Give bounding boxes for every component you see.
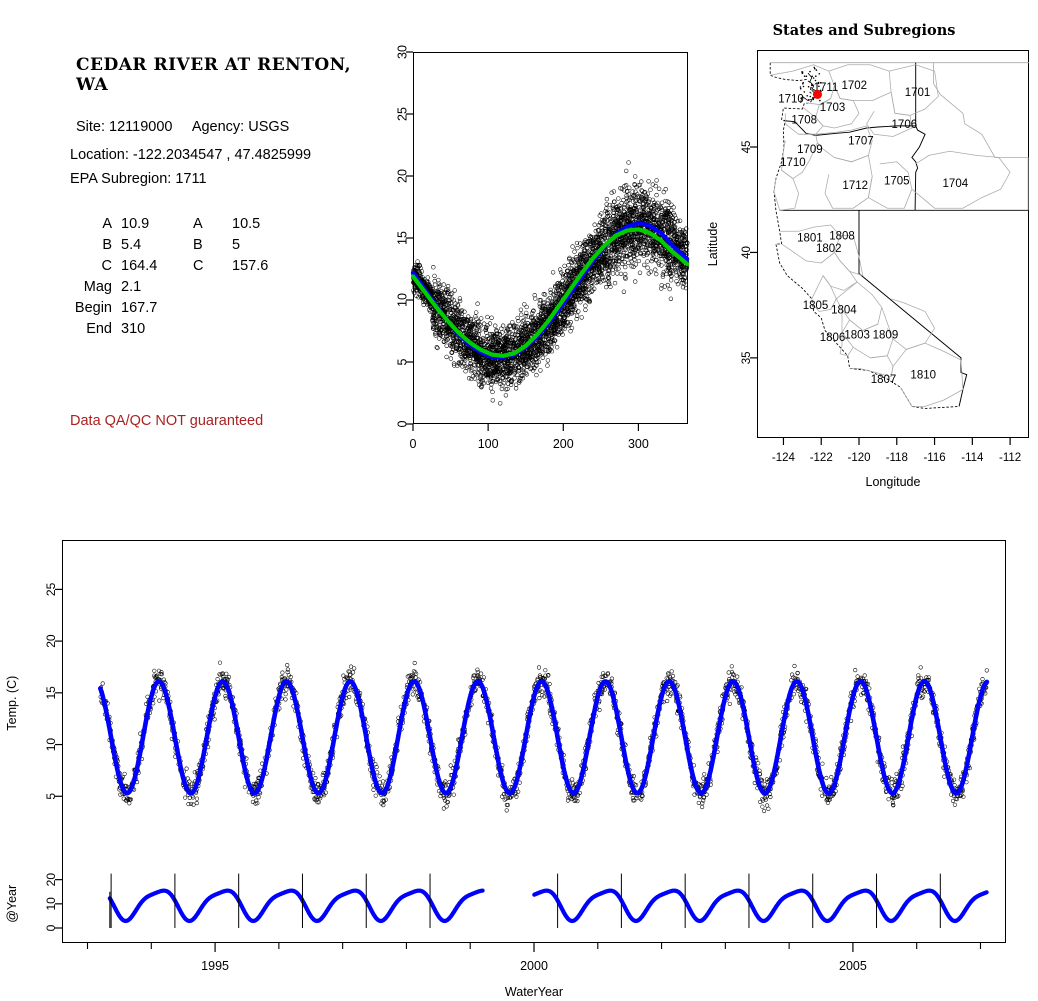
ts-y-tick-label: 5 — [44, 793, 58, 800]
parameter-label: Begin — [62, 300, 121, 321]
parameter-value: 310 — [121, 321, 193, 342]
parameter-row: Mag2.1 — [62, 279, 268, 300]
map-x-axis-title: Longitude — [866, 475, 921, 489]
parameter-value-secondary: 157.6 — [232, 258, 268, 279]
ts-x-tick-label: 2000 — [520, 959, 548, 973]
scatter-points — [411, 161, 689, 406]
map-x-tick-label: -120 — [847, 452, 870, 464]
parameter-value-secondary: 10.5 — [232, 216, 268, 237]
model-parameter-table: A10.9A10.5B5.4B5C164.4C157.6Mag2.1Begin1… — [62, 216, 268, 342]
parameter-row: End310 — [62, 321, 268, 342]
ts-y-tick-label: 10 — [44, 738, 58, 752]
gauge-point — [800, 88, 802, 90]
map-y-tick-label: 40 — [741, 246, 753, 259]
map-x-tick-label: -112 — [999, 452, 1021, 464]
gauge-point — [810, 87, 812, 89]
subregion-label: 1807 — [871, 374, 897, 386]
subregion-label: 1703 — [820, 102, 846, 114]
y-axis-tick-label: 0 — [395, 420, 409, 427]
ts-y-tick-label: 20 — [44, 634, 58, 648]
subpanel-annual-curves — [110, 891, 987, 921]
gauge-point — [810, 96, 812, 98]
parameter-row: C164.4C157.6 — [62, 258, 268, 279]
x-axis-tick-label: 0 — [410, 437, 417, 451]
subregion-label: 1806 — [820, 332, 846, 344]
parameter-value-secondary — [232, 300, 268, 321]
map-y-tick-label: 35 — [741, 351, 753, 364]
timeseries-chart: 510152025Temp. (C)01020@Year199520002005… — [0, 515, 1038, 1001]
subregion-label: 1701 — [905, 87, 931, 99]
map-canvas: -124-122-120-118-116-114-112354045Longit… — [690, 10, 1038, 510]
parameter-row: Begin167.7 — [62, 300, 268, 321]
map-x-tick-label: -114 — [961, 452, 984, 464]
huc-boundary — [774, 170, 799, 210]
gauge-point — [802, 83, 804, 85]
parameter-row: A10.9A10.5 — [62, 216, 268, 237]
gauge-point — [813, 77, 815, 79]
subregion-label: 1802 — [816, 243, 842, 255]
subregion-label: 1708 — [791, 115, 817, 127]
parameter-value: 10.9 — [121, 216, 193, 237]
subregion-label: 1710 — [780, 157, 806, 169]
subregion-label: 1705 — [884, 176, 910, 188]
gauge-point — [819, 73, 821, 75]
site-agency-line: Site: 12119000 Agency: USGS — [76, 119, 289, 135]
parameter-label-secondary — [193, 321, 232, 342]
subregion-label: 1805 — [803, 300, 829, 312]
ts-x-tick-label: 2005 — [839, 959, 867, 973]
subregion-label: 1710 — [778, 94, 804, 106]
huc-boundary — [882, 299, 935, 350]
parameter-label-secondary: C — [193, 258, 232, 279]
parameter-label: A — [62, 216, 121, 237]
parameter-value: 167.7 — [121, 300, 193, 321]
gauge-point — [813, 99, 815, 101]
subpanel-y-axis-title: @Year — [5, 885, 19, 923]
site-info-panel: CEDAR RIVER AT RENTON, WA Site: 12119000… — [0, 0, 400, 500]
map-x-tick-label: -118 — [886, 452, 908, 464]
subregion-label: 1809 — [873, 330, 899, 342]
gauge-point — [808, 99, 810, 101]
y-axis-tick-label: 20 — [395, 169, 409, 183]
parameter-label-secondary — [193, 300, 232, 321]
parameter-value: 5.4 — [121, 237, 193, 258]
gauge-point — [801, 71, 803, 73]
parameter-value-secondary — [232, 279, 268, 300]
ts-x-axis-title: WaterYear — [505, 985, 563, 999]
parameter-label: Mag — [62, 279, 121, 300]
subpanel-y-tick-label: 10 — [44, 897, 58, 911]
subregion-line: EPA Subregion: 1711 — [70, 171, 207, 187]
ts-y-axis-title: Temp. (C) — [5, 676, 19, 731]
gauge-point — [804, 75, 806, 77]
huc-boundary — [821, 252, 857, 290]
subregion-label: 1706 — [892, 119, 918, 131]
parameter-label-secondary — [193, 279, 232, 300]
gauge-point — [806, 75, 808, 77]
subregion-label: 1804 — [831, 304, 857, 316]
seasonal-scatter-chart: 0510152025300100200300 — [380, 40, 700, 490]
subregion-label: 1808 — [829, 231, 855, 243]
subregion-label: 1704 — [943, 178, 969, 190]
subregion-label: 1709 — [797, 144, 823, 156]
parameter-label: End — [62, 321, 121, 342]
gauge-point — [806, 95, 808, 97]
seasonal-plot-canvas: 0510152025300100200300 — [380, 40, 700, 490]
parameter-value-secondary — [232, 321, 268, 342]
map-y-tick-label: 45 — [741, 141, 753, 154]
gauge-point — [808, 86, 810, 88]
y-axis-tick-label: 30 — [395, 45, 409, 59]
map-x-tick-label: -124 — [772, 452, 796, 464]
parameter-label: B — [62, 237, 121, 258]
gauge-point — [809, 71, 811, 73]
or-id-border — [912, 126, 925, 210]
x-axis-tick-label: 200 — [553, 437, 574, 451]
subregion-label: 1803 — [844, 330, 870, 342]
page-title: CEDAR RIVER AT RENTON, WA — [76, 55, 376, 95]
states-subregions-map: States and Subregions -124-122-120-118-1… — [690, 10, 1038, 510]
y-axis-tick-label: 25 — [395, 107, 409, 121]
parameter-value: 2.1 — [121, 279, 193, 300]
ts-x-tick-label: 1995 — [201, 959, 229, 973]
map-x-tick-label: -122 — [810, 452, 833, 464]
map-y-axis-title: Latitude — [706, 222, 720, 267]
ts-y-tick-label: 15 — [44, 686, 58, 700]
gauge-point — [804, 91, 806, 93]
location-line: Location: -122.2034547 , 47.4825999 — [70, 147, 311, 163]
parameter-row: B5.4B5 — [62, 237, 268, 258]
gauge-point — [816, 69, 818, 71]
subregion-label: 1810 — [910, 370, 936, 382]
subregion-label: 1712 — [842, 180, 868, 192]
gauge-point — [811, 76, 813, 78]
timeseries-plot-canvas: 510152025Temp. (C)01020@Year199520002005… — [0, 515, 1038, 1001]
parameter-label-secondary: B — [193, 237, 232, 258]
qa-qc-warning: Data QA/QC NOT guaranteed — [70, 413, 263, 429]
subpanel-y-tick-label: 20 — [44, 873, 58, 887]
subpanel-y-tick-label: 0 — [44, 924, 58, 931]
x-axis-tick-label: 300 — [628, 437, 649, 451]
parameter-label: C — [62, 258, 121, 279]
parameter-label-secondary: A — [193, 216, 232, 237]
gauge-point — [815, 75, 817, 77]
subregion-label: 1707 — [848, 136, 874, 148]
y-axis-tick-label: 15 — [395, 231, 409, 245]
parameter-value-secondary: 5 — [232, 237, 268, 258]
subregion-label: 1702 — [841, 80, 867, 92]
site-location-marker — [813, 90, 822, 99]
parameter-value: 164.4 — [121, 258, 193, 279]
gauge-point — [803, 86, 805, 88]
y-axis-tick-label: 10 — [395, 293, 409, 307]
map-x-tick-label: -116 — [923, 452, 945, 464]
ts-y-tick-label: 25 — [44, 582, 58, 596]
x-axis-tick-label: 100 — [478, 437, 499, 451]
gauge-point — [800, 86, 802, 88]
y-axis-tick-label: 5 — [395, 358, 409, 365]
gauge-point — [813, 67, 815, 69]
